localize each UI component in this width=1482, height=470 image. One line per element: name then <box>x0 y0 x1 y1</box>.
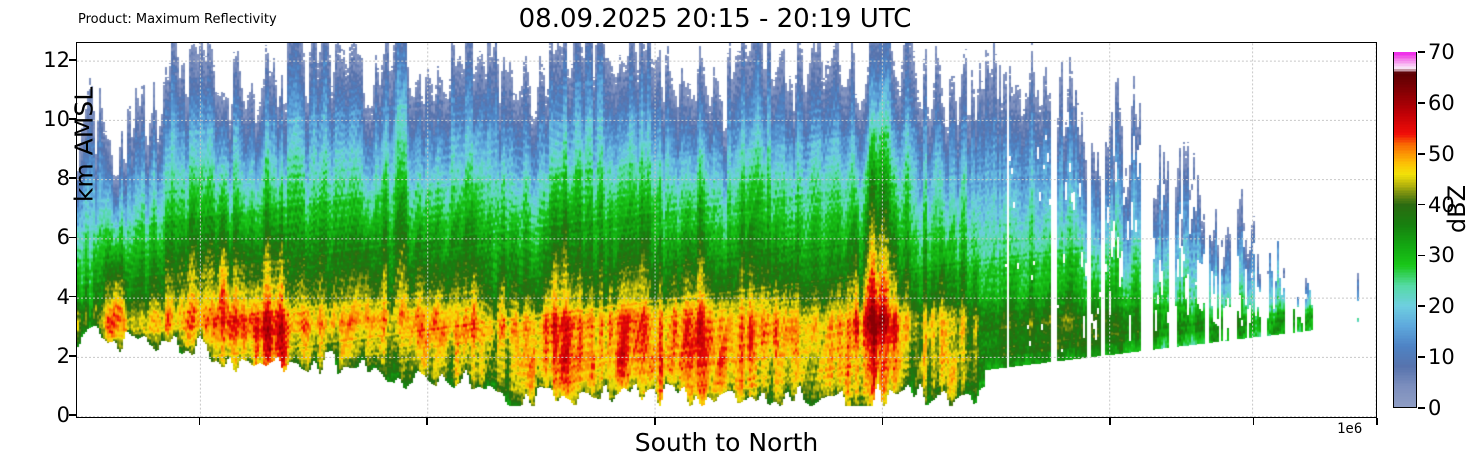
colorbar-gradient <box>1393 52 1417 408</box>
y-axis-tick-label: 0 <box>57 403 70 427</box>
colorbar-tick <box>1418 255 1425 257</box>
x-axis-tick <box>1109 418 1111 425</box>
x-axis-tick <box>1253 418 1255 425</box>
colorbar-tick <box>1418 407 1425 409</box>
colorbar-tick-label: 70 <box>1428 40 1455 64</box>
y-axis-tick-label: 4 <box>57 285 70 309</box>
colorbar-tick <box>1418 102 1425 104</box>
colorbar-tick-label: 10 <box>1428 345 1455 369</box>
colorbar-unit-label: dBZ <box>1443 144 1471 274</box>
plot-area <box>76 42 1377 418</box>
y-axis-tick <box>69 414 76 416</box>
colorbar-tick <box>1418 51 1425 53</box>
radar-cross-section-figure: Product: Maximum Reflectivity 08.09.2025… <box>0 0 1482 470</box>
y-axis-tick <box>69 296 76 298</box>
colorbar-tick <box>1418 356 1425 358</box>
colorbar-tick-label: 0 <box>1428 396 1441 420</box>
y-axis-tick <box>69 355 76 357</box>
x-axis-tick <box>1376 418 1378 425</box>
colorbar-tick-label: 60 <box>1428 91 1455 115</box>
y-axis-tick <box>69 237 76 239</box>
y-axis-tick-label: 8 <box>57 166 70 190</box>
x-axis-tick <box>199 418 201 425</box>
y-axis-label: km AMSL <box>70 55 99 235</box>
colorbar-tick <box>1418 153 1425 155</box>
reflectivity-heatmap <box>77 43 1375 416</box>
chart-title: 08.09.2025 20:15 - 20:19 UTC <box>0 4 1430 34</box>
x-axis-tick <box>882 418 884 425</box>
colorbar-tick-label: 20 <box>1428 294 1455 318</box>
y-axis-tick-label: 2 <box>57 344 70 368</box>
y-axis-tick-label: 12 <box>43 48 70 72</box>
y-axis-tick-label: 10 <box>43 107 70 131</box>
x-axis-label: South to North <box>76 428 1377 457</box>
colorbar-segment <box>1394 52 1416 54</box>
colorbar-tick <box>1418 204 1425 206</box>
y-axis-tick-label: 6 <box>57 225 70 249</box>
x-axis-tick <box>654 418 656 425</box>
x-axis-offset-label: 1e6 <box>1337 421 1362 437</box>
colorbar <box>1393 52 1417 408</box>
colorbar-tick <box>1418 305 1425 307</box>
x-axis-tick <box>426 418 428 425</box>
